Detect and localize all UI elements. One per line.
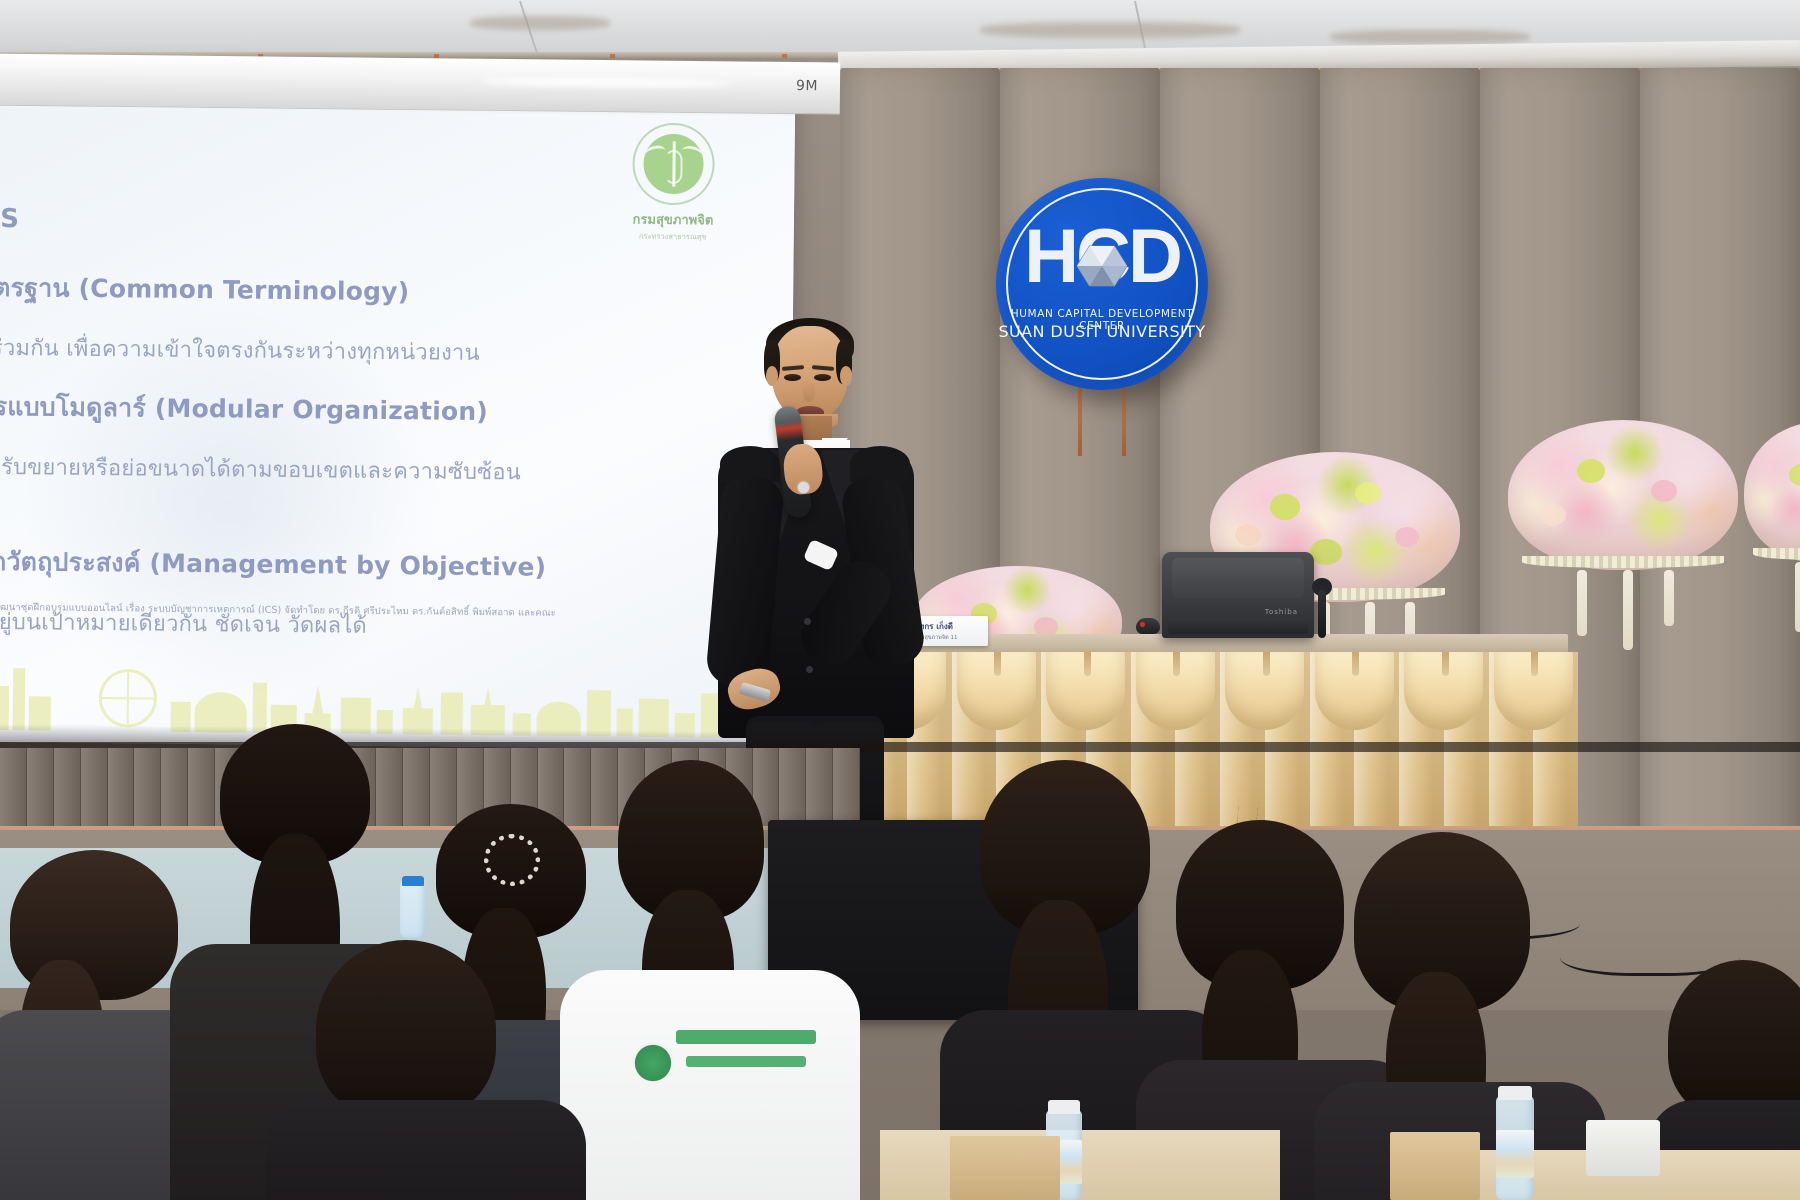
- bottle-cap: [1498, 1086, 1532, 1100]
- slide-text-block: ICS มาตรฐาน (Common Terminology) หัสร่วม…: [0, 204, 794, 647]
- tissue-box: [1586, 1120, 1660, 1176]
- mouse-led-icon: [1140, 622, 1145, 627]
- bottle-label: [1496, 1130, 1534, 1178]
- printer: Toshiba: [1162, 552, 1314, 638]
- screen-housing-label: 9M: [796, 78, 818, 94]
- caduceus-icon: [632, 123, 715, 206]
- water-bottle: [400, 880, 426, 938]
- projection-screen: กรมสุขภาพจิต กระทรวงสาธารณสุข ICS มาตรฐา…: [0, 62, 796, 750]
- slide-bullet-heading: ยยึดวัตถุประสงค์ (Management by Objectiv…: [0, 542, 791, 591]
- pearl-hair-clip-icon: [484, 834, 540, 886]
- paper-bag: [950, 1136, 1060, 1200]
- slide-content: กรมสุขภาพจิต กระทรวงสาธารณสุข ICS มาตรฐา…: [0, 108, 795, 750]
- screen-housing: 9M: [0, 53, 840, 114]
- bottle-cap: [402, 876, 424, 886]
- hexagon-icon: [1077, 244, 1127, 288]
- ring-icon: [798, 482, 809, 493]
- polo-logo-icon: [632, 1042, 674, 1084]
- hcd-logo-sign: HCD HUMAN CAPITAL DEVELOPMENT CENTER SUA…: [996, 178, 1208, 390]
- slide-bullet-heading: มาตรฐาน (Common Terminology): [0, 268, 793, 317]
- sign-mount-rod: [1122, 386, 1126, 456]
- bottle-cap: [1048, 1100, 1080, 1114]
- slide-bullet-heading: ด์กรแบบโมดูลาร์ (Modular Organization): [0, 387, 792, 436]
- printer-brand-label: Toshiba: [1265, 608, 1298, 616]
- sign-mount-rod: [1078, 386, 1082, 456]
- flower-bouquet: [1508, 420, 1738, 570]
- paper-bag: [1390, 1132, 1480, 1200]
- flower-bouquet: [1744, 422, 1800, 562]
- hcd-subtitle-line2: SUAN DUSIT UNIVERSITY: [996, 322, 1208, 341]
- microphone-stand: [1318, 590, 1326, 638]
- conference-photo-scene: กรมสุขภาพจิต กระทรวงสาธารณสุข ICS มาตรฐา…: [0, 0, 1800, 1200]
